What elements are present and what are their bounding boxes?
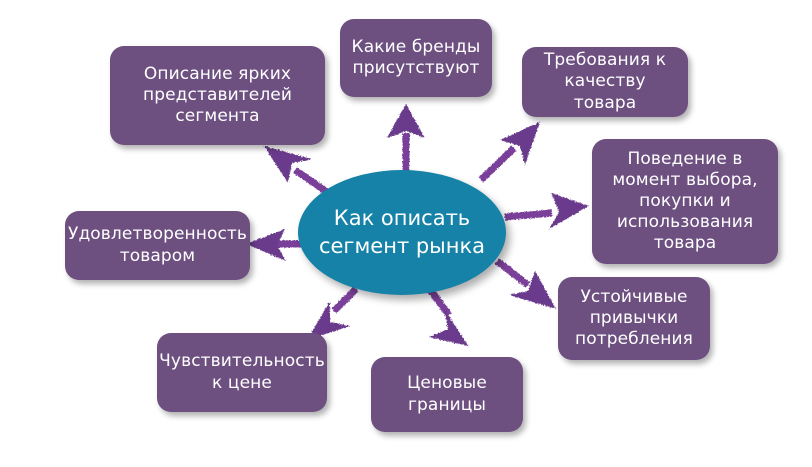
node-line: потребления (575, 329, 693, 350)
node-line: Описание ярких (143, 64, 292, 85)
arrow-to-quality-requirements (481, 122, 540, 180)
node-line: товара (612, 233, 757, 254)
node-line: качеству товара (532, 71, 678, 113)
arrow-to-purchase-behaviour (505, 193, 589, 229)
hub-label-line2: сегмент рынка (319, 233, 485, 261)
node-line: сегмента (143, 106, 292, 127)
node-line: Какие бренды (352, 37, 481, 58)
node-stable-habits[interactable]: Устойчивые привычки потребления (558, 277, 710, 360)
diagram-canvas: Как описать сегмент рынка Описание ярких… (0, 0, 812, 467)
arrow-to-price-boundaries (428, 287, 468, 346)
node-line: Чувствительность (159, 351, 325, 372)
node-line: момент выбора, (612, 170, 757, 191)
node-price-sensitivity[interactable]: Чувствительность к цене (157, 333, 327, 412)
central-hub: Как описать сегмент рынка (298, 170, 506, 295)
node-line: Удовлетворенность (68, 224, 247, 245)
node-brands[interactable]: Какие бренды присутствуют (340, 19, 492, 97)
node-line: Устойчивые (575, 287, 693, 308)
arrow-to-stable-habits (497, 261, 556, 309)
arrow-to-brands (387, 104, 425, 172)
node-line: Ценовые (407, 373, 487, 394)
node-product-satisfaction[interactable]: Удовлетворенность товаром (65, 211, 250, 280)
node-line: использования (612, 212, 757, 233)
node-line: к цене (159, 373, 325, 394)
node-line: Требования к (532, 50, 678, 71)
arrow-to-bright-representatives (264, 146, 327, 192)
node-line: присутствуют (352, 58, 481, 79)
node-line: границы (407, 395, 487, 416)
hub-label-line1: Как описать (319, 205, 485, 233)
node-line: товаром (68, 246, 247, 267)
node-bright-representatives[interactable]: Описание ярких представителей сегмента (110, 46, 325, 145)
node-purchase-behaviour[interactable]: Поведение в момент выбора, покупки и исп… (592, 139, 778, 264)
node-line: привычки (575, 308, 693, 329)
node-price-boundaries[interactable]: Ценовые границы (371, 357, 523, 432)
node-line: представителей (143, 85, 292, 106)
node-line: Поведение в (612, 149, 757, 170)
node-quality-requirements[interactable]: Требования к качеству товара (522, 47, 688, 117)
node-line: покупки и (612, 191, 757, 212)
